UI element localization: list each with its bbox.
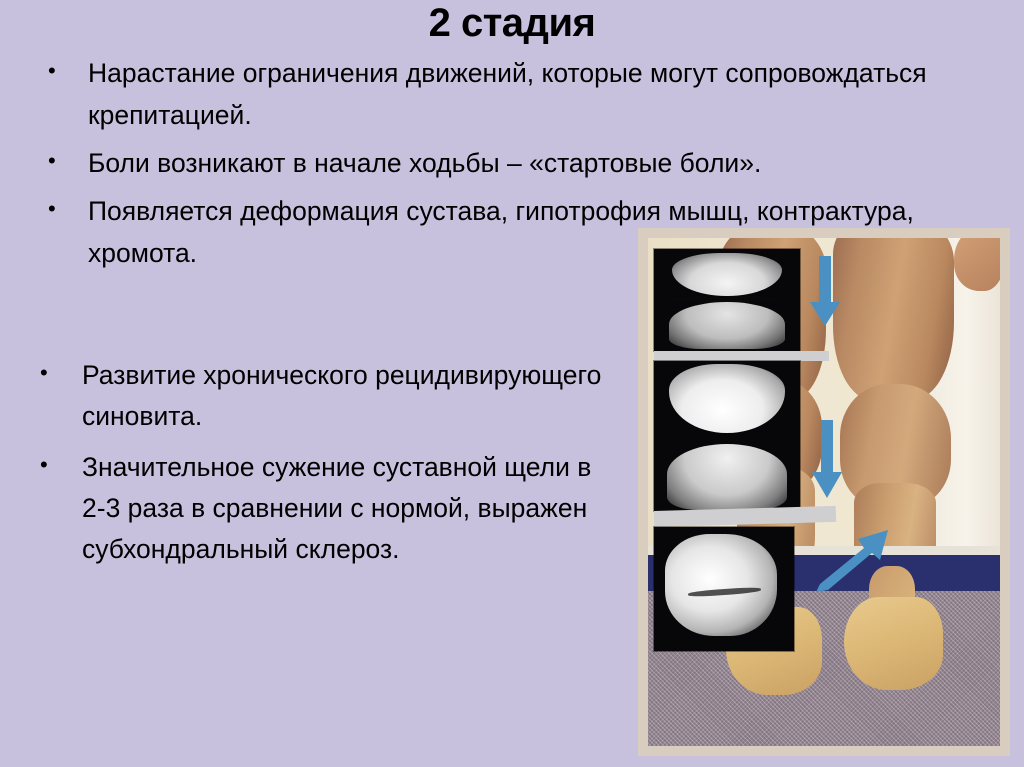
xray-image-lower [654, 527, 794, 651]
medical-figure [638, 228, 1010, 756]
bullet-text: Нарастание ограничения движений, которые… [88, 52, 953, 136]
right-foot [844, 597, 944, 690]
arrow-down-icon [808, 256, 842, 328]
sclerotic-bone-mass [665, 534, 777, 636]
list-item: • Значительное сужение суставной щели в … [40, 447, 605, 570]
bullet-marker-icon: • [48, 52, 88, 82]
tibia-shadow [669, 302, 786, 349]
bullet-marker-icon: • [48, 190, 88, 220]
hand [954, 234, 1004, 291]
xray-image-middle [654, 361, 800, 511]
bullet-marker-icon: • [40, 355, 82, 384]
page-title: 2 стадия [0, 2, 1024, 44]
arrow-down-icon [810, 420, 844, 500]
bullet-list-bottom: • Развитие хронического рецидивирующего … [40, 355, 605, 580]
list-item: • Развитие хронического рецидивирующего … [40, 355, 605, 437]
bullet-text: Боли возникают в начале ходьбы – «старто… [88, 142, 953, 184]
presentation-slide: 2 стадия • Нарастание ограничения движен… [0, 0, 1024, 767]
list-item: • Боли возникают в начале ходьбы – «стар… [48, 142, 953, 184]
xray-separator-strip [654, 351, 829, 361]
bullet-text: Значительное сужение суставной щели в 2-… [82, 447, 605, 570]
bullet-marker-icon: • [40, 447, 82, 476]
knee-xray-middle [654, 361, 800, 511]
femur-shadow [672, 253, 783, 296]
right-leg-thigh [833, 234, 954, 400]
arrow-up-right-icon [814, 528, 892, 598]
bullet-text: Развитие хронического рецидивирующего си… [82, 355, 605, 437]
joint-space [670, 435, 784, 443]
knee-xray-lower [654, 527, 794, 651]
xray-image-upper [654, 249, 800, 351]
list-item: • Нарастание ограничения движений, котор… [48, 52, 953, 136]
bullet-marker-icon: • [48, 142, 88, 172]
knee-xray-upper [654, 249, 800, 351]
femur-shadow [669, 364, 786, 433]
tibia-shadow [667, 444, 787, 510]
